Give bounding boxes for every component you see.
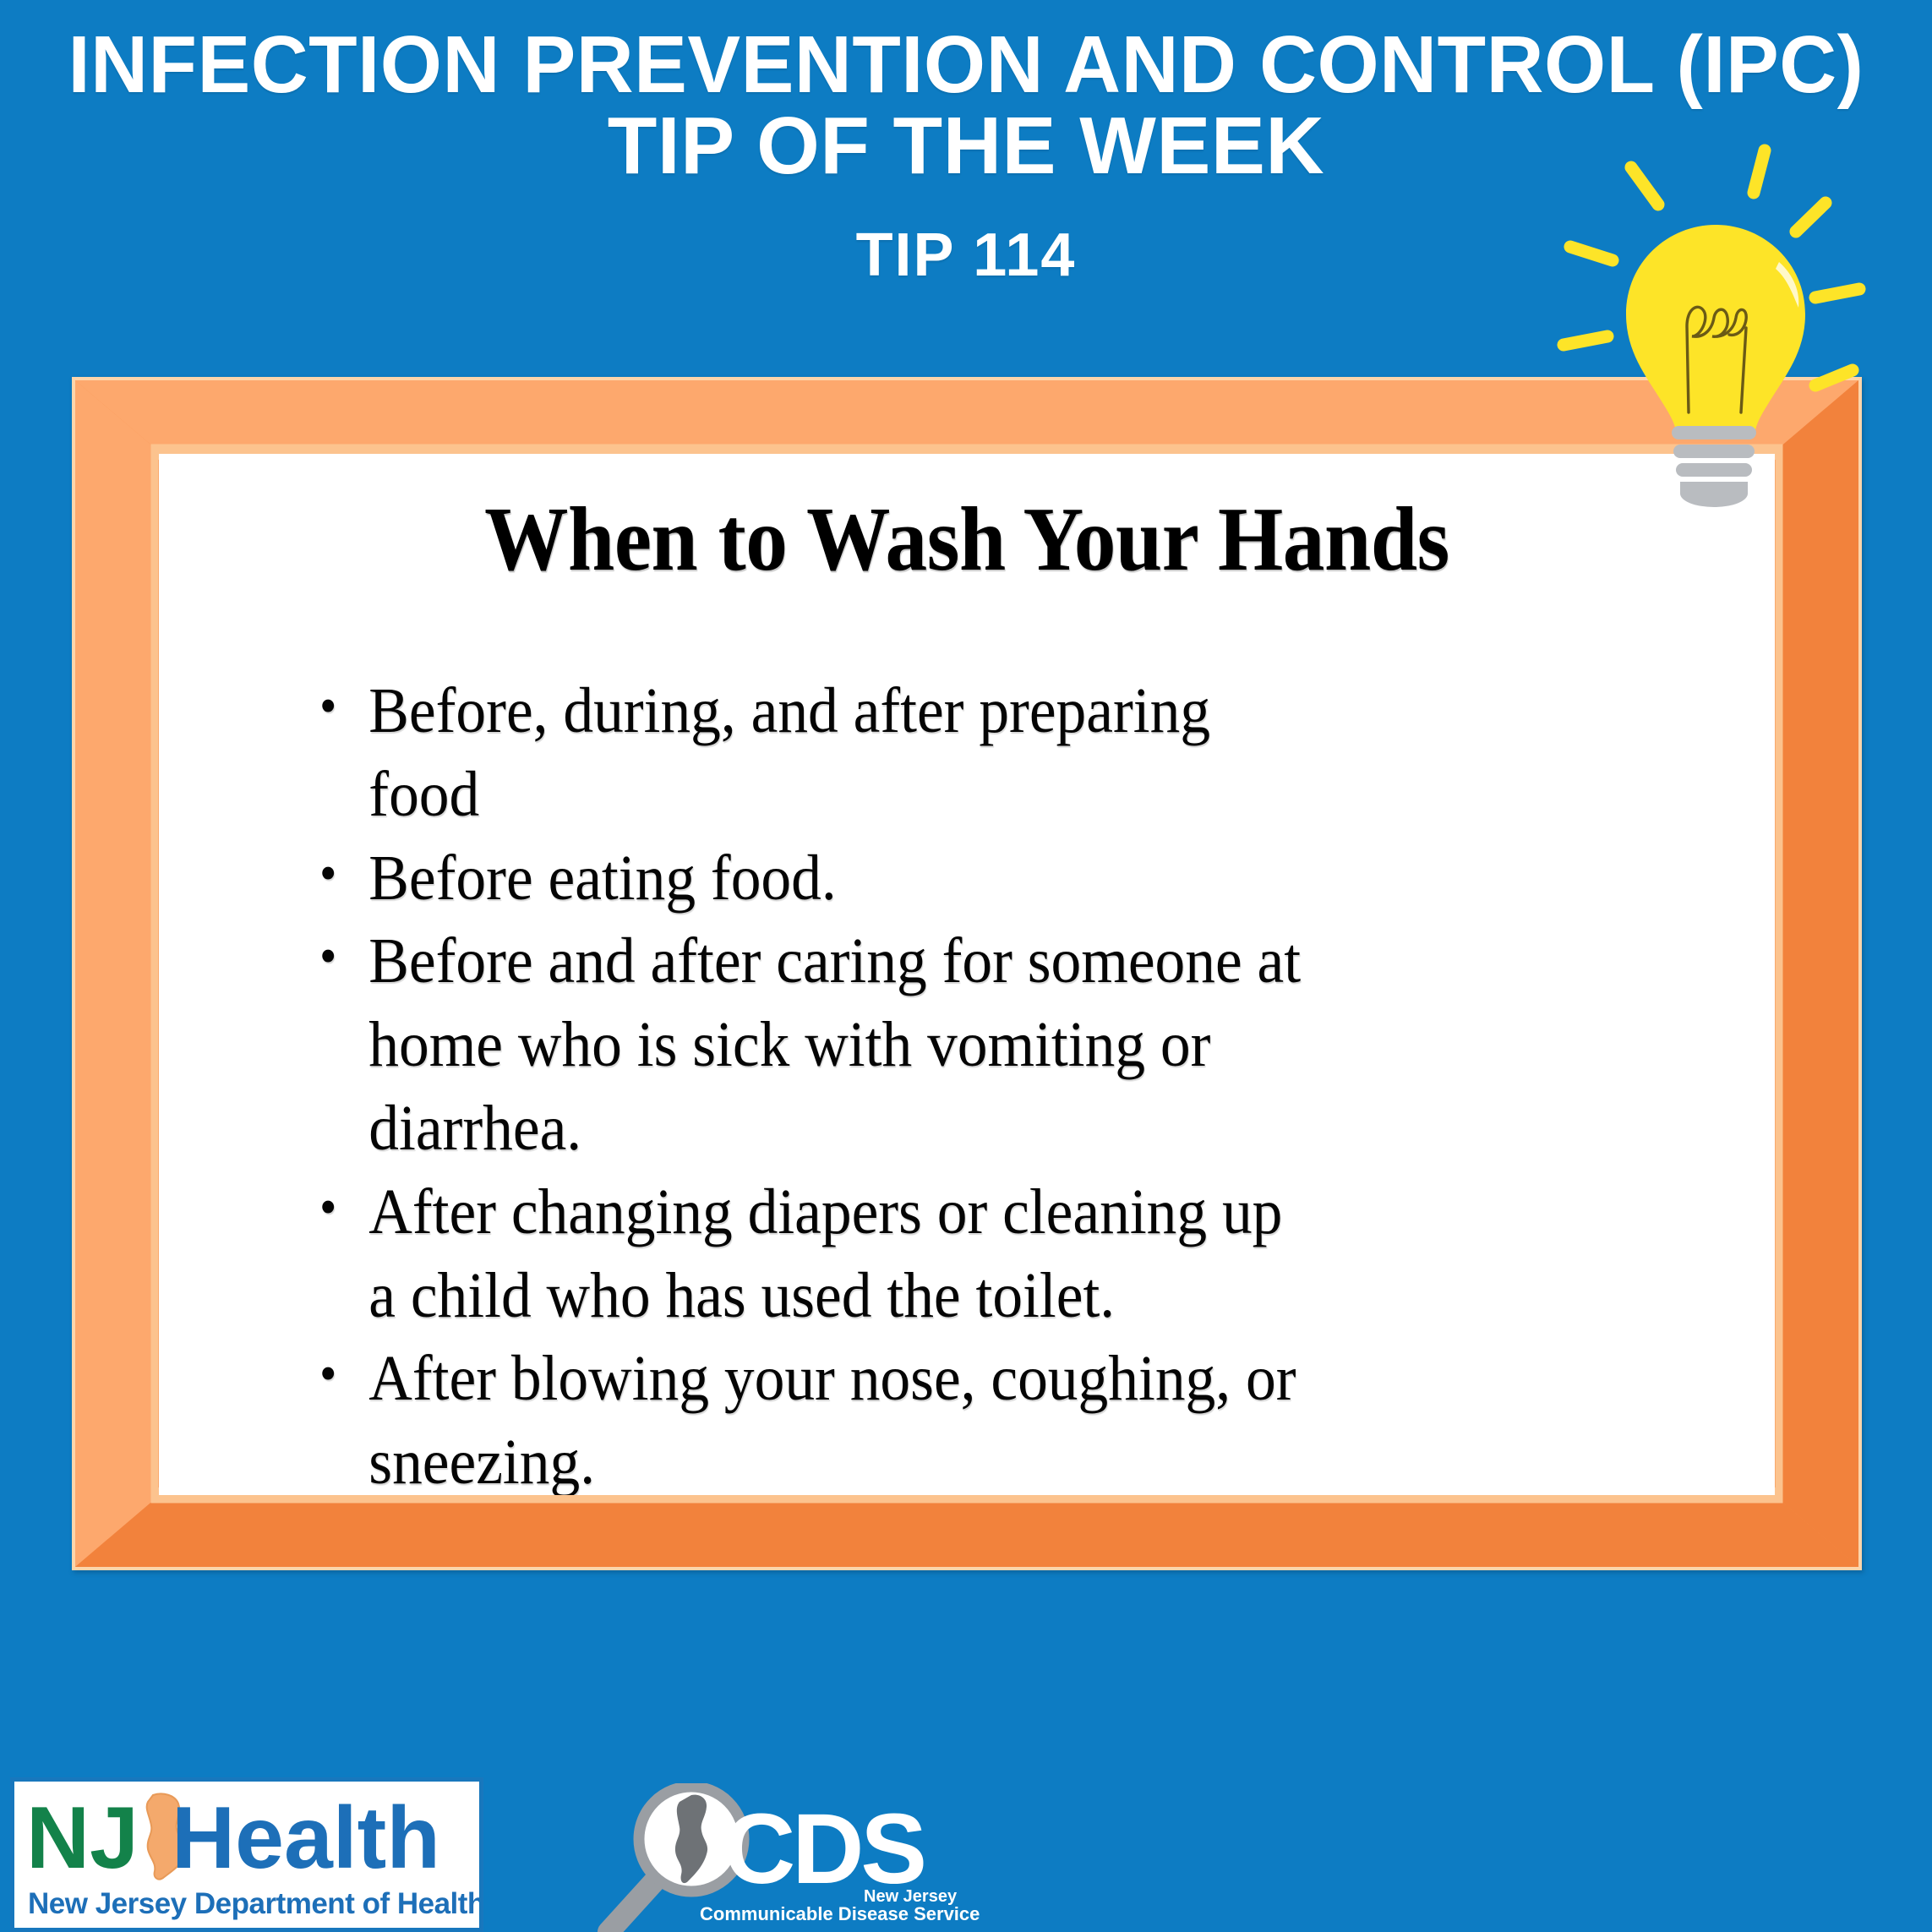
card-title: When to Wash Your Hands: [270, 489, 1664, 592]
tip-card-content: When to Wash Your Hands Before, during, …: [159, 454, 1775, 1495]
poster-title-line2: TIP OF THE WEEK: [0, 103, 1932, 189]
ipc-tip-poster: INFECTION PREVENTION AND CONTROL (IPC) T…: [0, 0, 1932, 1932]
list-item: Before eating food.: [319, 837, 1306, 920]
list-item: After blowing your nose, coughing, or sn…: [319, 1337, 1306, 1495]
list-item: Before, during, and after preparing food: [319, 669, 1306, 837]
nj-health-tagline: New Jersey Department of Health: [28, 1887, 467, 1921]
tip-number-label: TIP 114: [0, 223, 1932, 287]
nj-health-logo: NJ Health New Jersey Department of Healt…: [10, 1777, 483, 1932]
cds-logo: CDS New Jersey Communicable Disease Serv…: [592, 1783, 1014, 1932]
nj-health-abbr-blue: Health: [172, 1790, 440, 1881]
magnifying-glass-icon: [609, 1878, 658, 1932]
poster-header: INFECTION PREVENTION AND CONTROL (IPC) T…: [0, 0, 1932, 287]
poster-title-line1: INFECTION PREVENTION AND CONTROL (IPC): [19, 22, 1913, 108]
handwashing-bullet-list: Before, during, and after preparing food…: [319, 669, 1724, 1495]
list-item: Before and after caring for someone at h…: [319, 920, 1306, 1170]
nj-health-abbr-green: NJ: [26, 1790, 139, 1881]
cds-line2: Communicable Disease Service: [700, 1903, 980, 1924]
list-item: After changing diapers or cleaning up a …: [319, 1171, 1306, 1338]
